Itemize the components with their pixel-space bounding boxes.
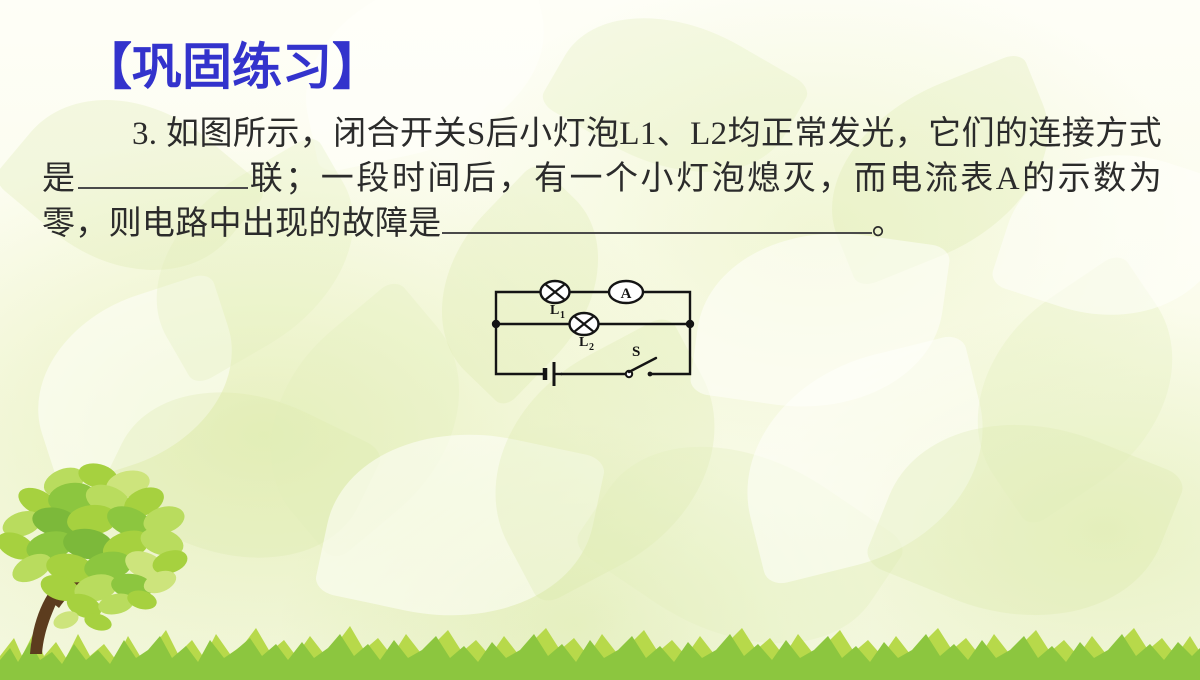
slide-canvas: 【巩固练习】 3. 如图所示，闭合开关S后小灯泡L1、L2均正常发光，它们的连接… [0,0,1200,680]
switch-symbol[interactable] [626,358,656,377]
question-line-2b: 联；一段时间后， [248,161,534,197]
question-text-block: 3. 如图所示，闭合开关S后小灯泡L1、L2均正常发光，它们的连接方式是联；一段… [42,112,1162,247]
tree-illustration [0,454,244,664]
battery-symbol [545,362,562,386]
lamp-l1-symbol [541,281,570,303]
lamp-l2-label: L [579,335,588,350]
question-line-1: 如图所示，闭合开关S后小灯泡L1、L2均正常 [166,116,828,152]
answer-blank-connection-type[interactable] [78,187,248,189]
question-line-4b: 。 [872,206,905,242]
question-line-4a: 中出现的故障是 [209,206,442,242]
switch-label: S [632,344,640,360]
junction-node-left [492,320,500,328]
junction-node-right [686,320,694,328]
answer-blank-fault[interactable] [442,232,872,234]
ammeter-letter: A [621,286,632,302]
question-number: 3. [132,116,157,152]
lamp-l1-subscript: 1 [560,310,565,321]
ammeter-symbol: A [609,281,643,303]
slide-title: 【巩固练习】 [82,42,382,92]
circuit-diagram: A L 1 L 2 S [484,278,708,390]
lamp-l2-subscript: 2 [589,342,594,353]
tree-foliage [0,460,191,634]
lamp-l2-symbol [570,313,599,335]
lamp-l1-label: L [550,303,559,318]
